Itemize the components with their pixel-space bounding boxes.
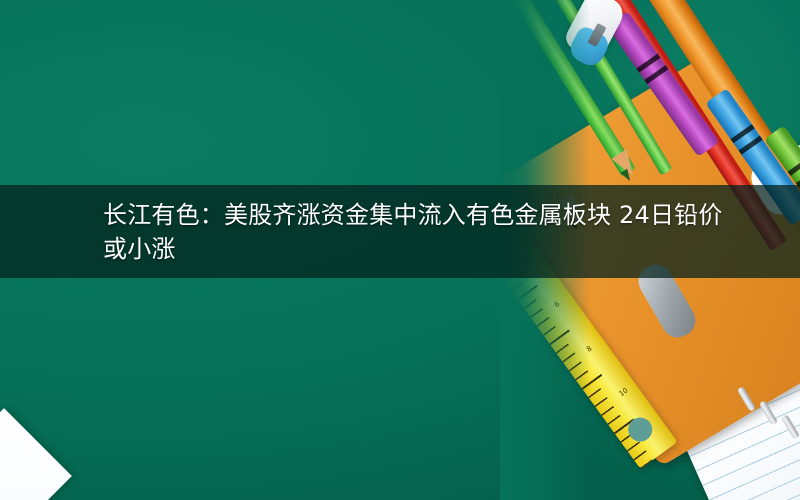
article-title: 长江有色：美股齐涨资金集中流入有色金属板块 24日铅价或小涨: [0, 198, 755, 266]
article-thumbnail-card[interactable]: 2 4 6 8 10: [0, 0, 800, 500]
crayon-band: [739, 136, 763, 155]
ruler-number: 8: [585, 344, 593, 353]
crayon-band: [788, 158, 800, 176]
title-overlay-band: 长江有色：美股齐涨资金集中流入有色金属板块 24日铅价或小涨: [0, 185, 800, 278]
ruler-number: 6: [553, 300, 561, 309]
ruler-number: 10: [618, 386, 630, 398]
crayon-band: [644, 65, 668, 84]
